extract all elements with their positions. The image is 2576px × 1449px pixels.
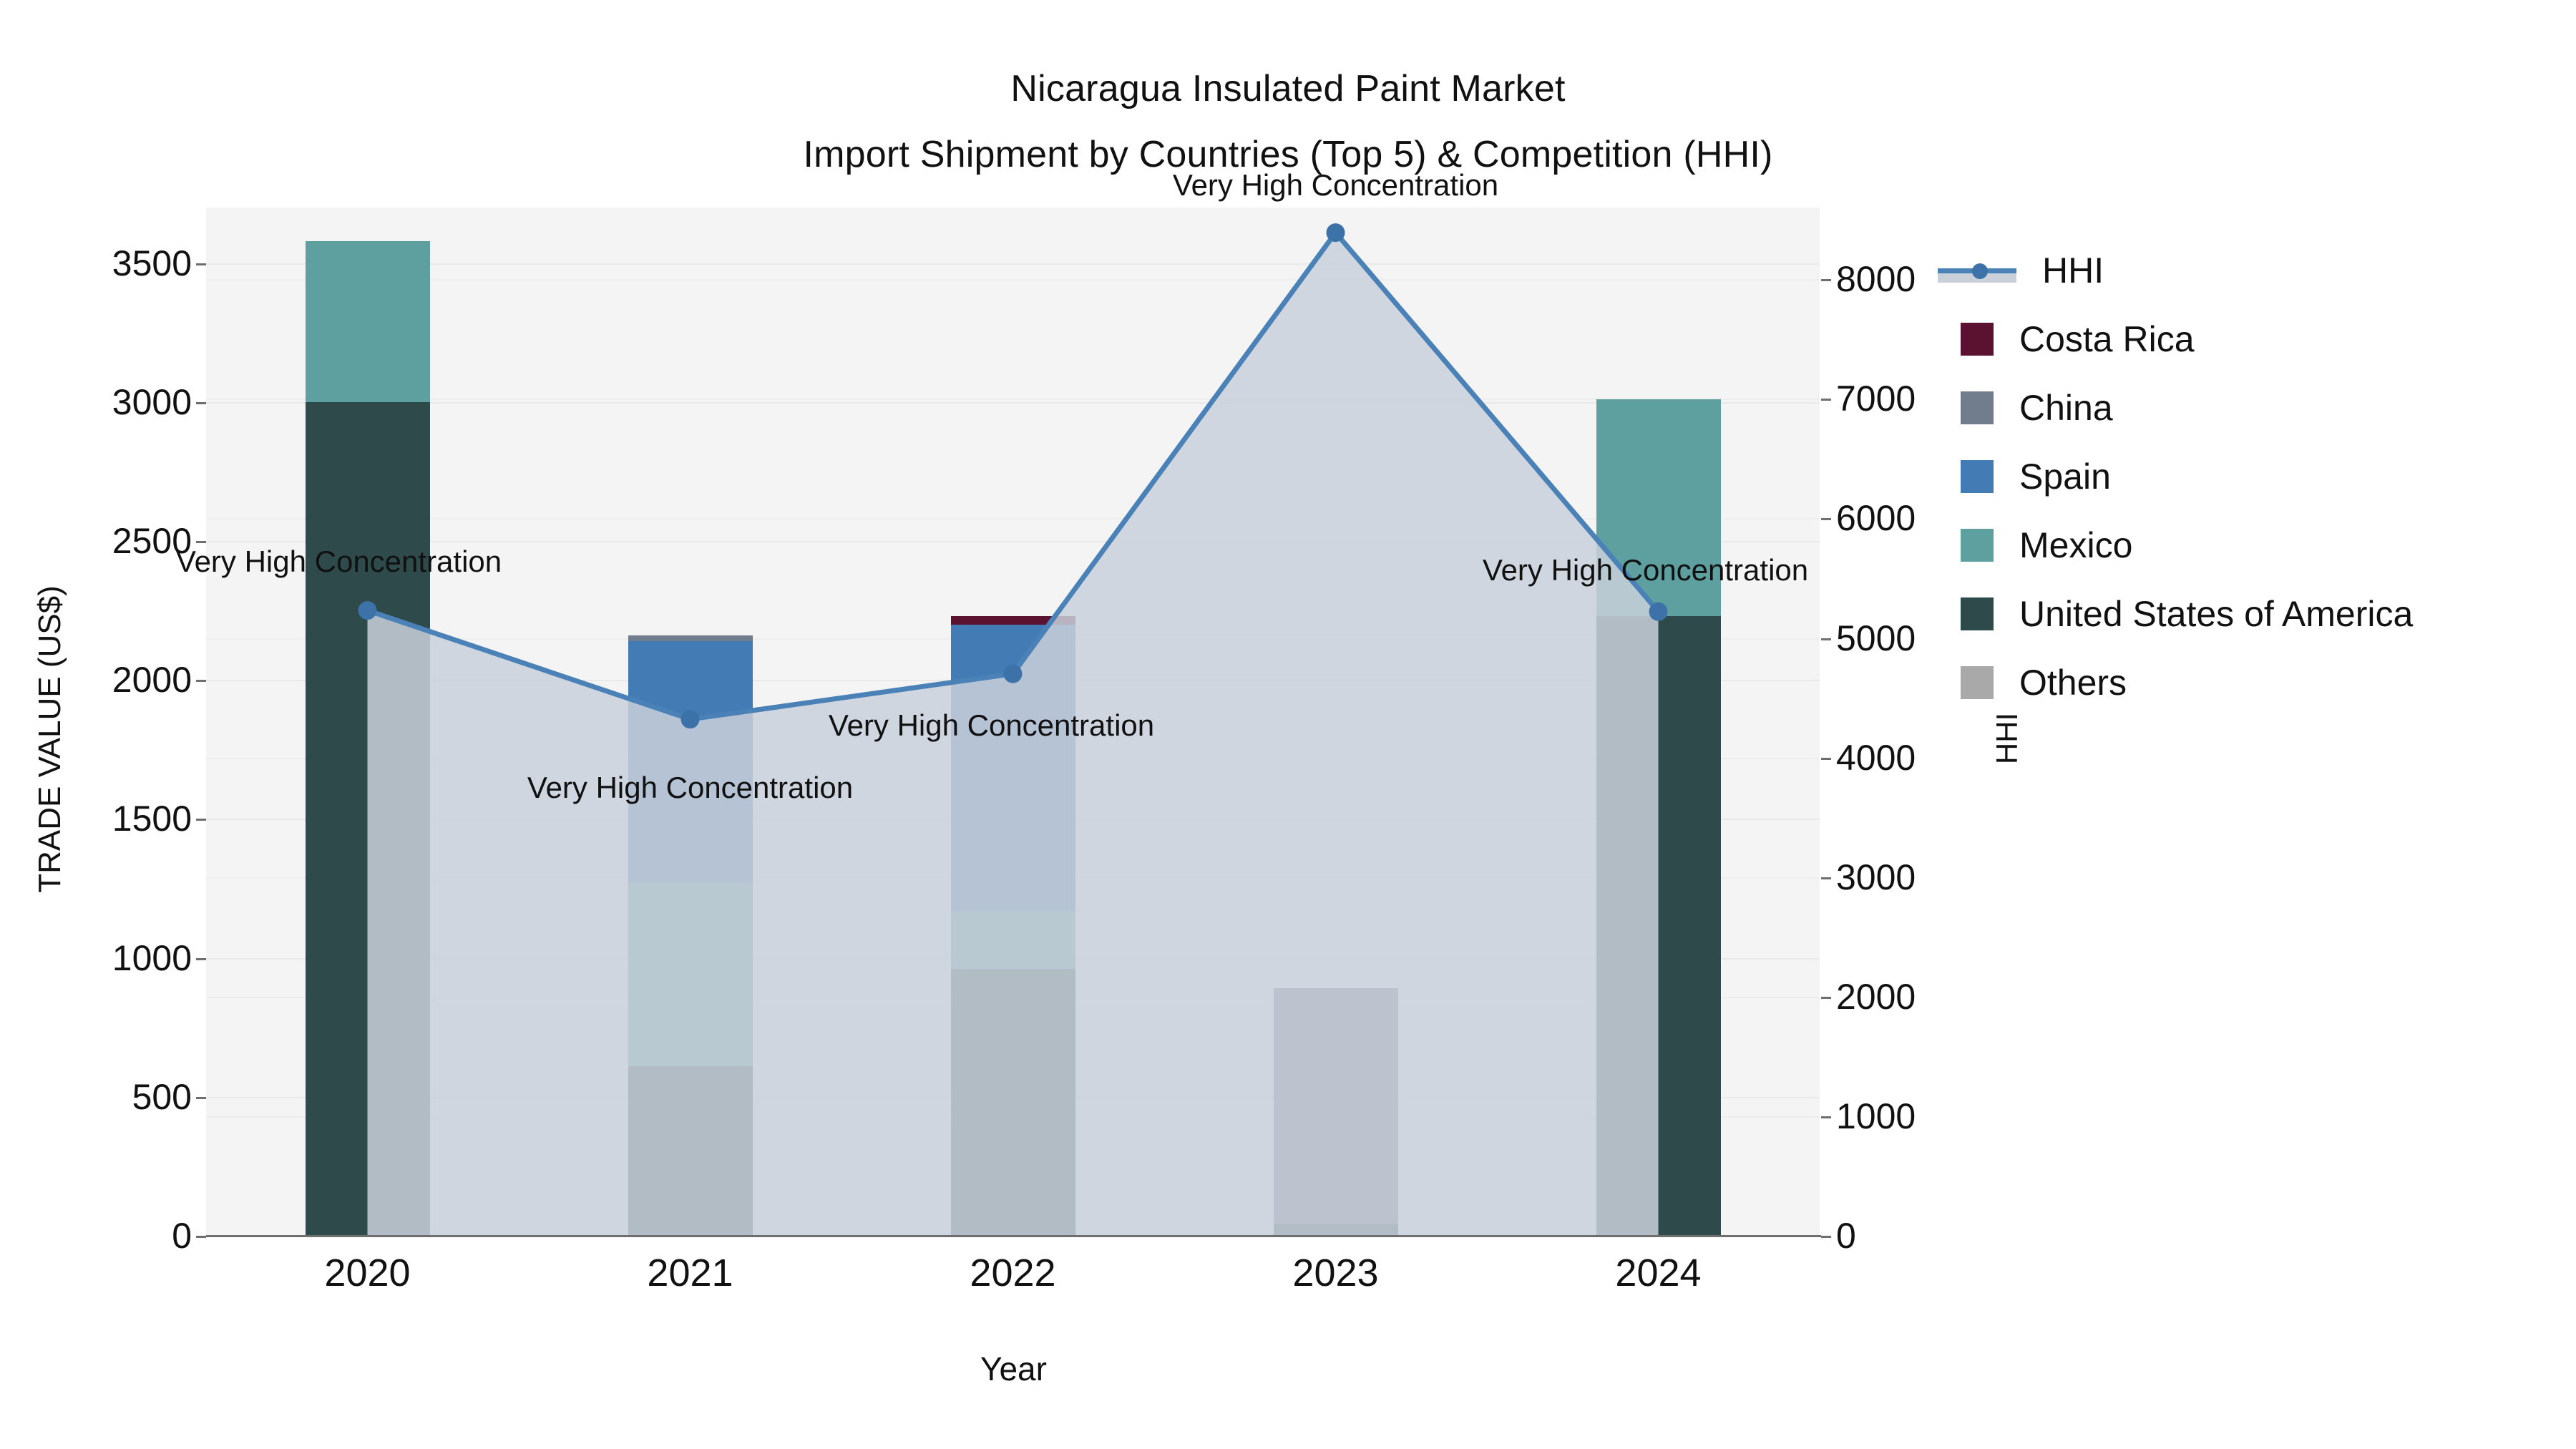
y-axis-right-tick-mark	[1821, 997, 1831, 999]
y-axis-left-tick-label: 1000	[0, 937, 192, 979]
chart-title: Nicaragua Insulated Paint Market	[0, 56, 2576, 122]
y-axis-left-tick-mark	[196, 402, 206, 404]
legend-line-swatch-icon	[1938, 254, 2016, 287]
hhi-marker[interactable]	[1004, 665, 1023, 683]
legend-item-label: United States of America	[2019, 596, 2413, 632]
legend-item-china[interactable]: China	[1961, 374, 2576, 442]
y-axis-left-tick-mark	[196, 819, 206, 821]
hhi-marker[interactable]	[681, 710, 700, 728]
y-axis-left-tick-label: 3500	[0, 243, 192, 284]
y-axis-left-tick-mark	[196, 541, 206, 543]
y-axis-right-tick-label: 0	[1836, 1215, 2051, 1257]
x-axis-tick-label: 2023	[1193, 1251, 1479, 1295]
x-axis-title: Year	[206, 1350, 1821, 1388]
y-axis-left-tick-label: 0	[0, 1215, 192, 1257]
legend-color-swatch	[1961, 666, 1994, 699]
y-axis-right-tick-label: 1000	[1836, 1096, 2051, 1137]
y-axis-left-tick-label: 2500	[0, 520, 192, 562]
y-axis-right-tick-mark	[1821, 399, 1831, 401]
y-axis-left-tick-label: 2000	[0, 659, 192, 701]
y-axis-left-tick-mark	[196, 263, 206, 265]
y-axis-right-tick-mark	[1821, 758, 1831, 760]
concentration-annotation: Very High Concentration	[829, 708, 1154, 743]
legend-color-swatch	[1961, 460, 1994, 493]
legend-color-swatch	[1961, 323, 1994, 356]
y-axis-left-tick-label: 500	[0, 1076, 192, 1118]
y-axis-left-tick-mark	[196, 1097, 206, 1099]
legend-item-hhi[interactable]: HHI	[1961, 236, 2576, 305]
legend-color-swatch	[1961, 391, 1994, 424]
legend-color-swatch	[1961, 597, 1994, 630]
y-axis-right-tick-mark	[1821, 518, 1831, 520]
plot-area: Very High ConcentrationVery High Concent…	[206, 208, 1820, 1236]
legend-item-united-states-of-america[interactable]: United States of America	[1961, 580, 2576, 648]
chart-legend: HHICosta RicaChinaSpainMexicoUnited Stat…	[1961, 236, 2576, 717]
legend-item-label: Costa Rica	[2019, 321, 2195, 357]
y-axis-right-tick-mark	[1821, 638, 1831, 640]
x-axis-tick-label: 2020	[225, 1251, 511, 1295]
y-axis-left-title: TRADE VALUE (US$)	[32, 453, 68, 1025]
y-axis-left-tick-mark	[196, 1236, 206, 1238]
y-axis-right-tick-mark	[1821, 1116, 1831, 1118]
legend-item-label: China	[2019, 390, 2113, 426]
legend-item-label: Others	[2019, 665, 2127, 701]
legend-item-label: Mexico	[2019, 527, 2132, 563]
x-axis-tick-label: 2024	[1516, 1251, 1802, 1295]
hhi-marker[interactable]	[1327, 223, 1345, 242]
y-axis-left-tick-mark	[196, 958, 206, 960]
concentration-annotation: Very High Concentration	[1483, 553, 1808, 587]
legend-item-others[interactable]: Others	[1961, 648, 2576, 717]
legend-item-spain[interactable]: Spain	[1961, 442, 2576, 511]
legend-item-mexico[interactable]: Mexico	[1961, 511, 2576, 580]
y-axis-right-tick-mark	[1821, 279, 1831, 281]
x-axis-tick-label: 2021	[547, 1251, 834, 1295]
legend-item-label: Spain	[2019, 459, 2111, 494]
legend-item-costa-rica[interactable]: Costa Rica	[1961, 305, 2576, 374]
y-axis-left-tick-label: 1500	[0, 798, 192, 839]
concentration-annotation: Very High Concentration	[527, 771, 853, 805]
y-axis-right-tick-label: 2000	[1836, 976, 2051, 1018]
concentration-annotation: Very High Concentration	[1173, 168, 1498, 203]
legend-item-label: HHI	[2042, 253, 2104, 288]
y-axis-right-tick-mark	[1821, 877, 1831, 879]
x-axis-line	[206, 1235, 1821, 1237]
y-axis-left-tick-mark	[196, 680, 206, 682]
chart-canvas: Nicaragua Insulated Paint Market Import …	[0, 0, 2576, 1449]
concentration-annotation: Very High Concentration	[176, 545, 502, 579]
hhi-marker[interactable]	[358, 601, 377, 620]
x-axis-tick-label: 2022	[870, 1251, 1156, 1295]
y-axis-right-tick-mark	[1821, 1236, 1831, 1238]
legend-color-swatch	[1961, 529, 1994, 562]
y-axis-left-tick-label: 3000	[0, 381, 192, 423]
hhi-marker[interactable]	[1649, 602, 1668, 621]
